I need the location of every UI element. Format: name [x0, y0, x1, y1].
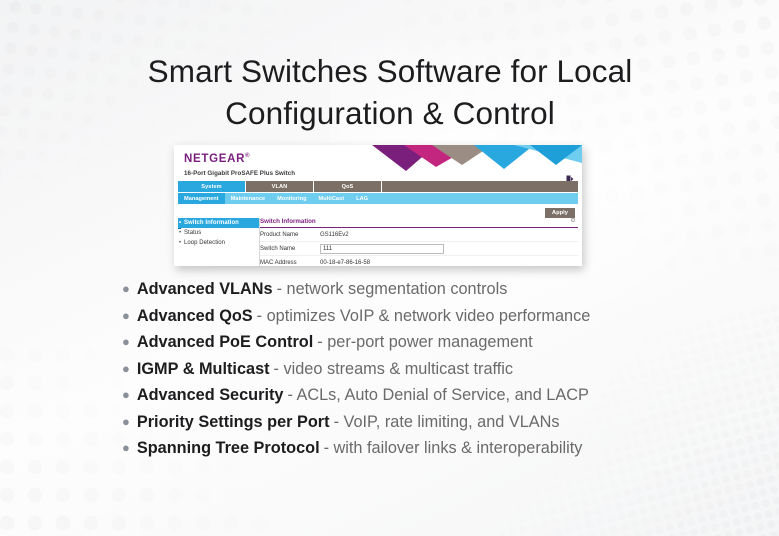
subtab-lag[interactable]: LAG — [350, 193, 374, 204]
value-mac-address: 00-18-e7-86-16-58 — [320, 260, 370, 266]
logout-icon[interactable] — [566, 170, 574, 178]
page-title-line-2: Configuration & Control — [60, 92, 720, 134]
netgear-logo: NETGEAR® — [184, 153, 250, 165]
list-item: ● Advanced PoE Control - per-port power … — [122, 333, 742, 360]
bullet-description: - network segmentation controls — [277, 280, 508, 299]
nav-item-switch-information[interactable]: Switch Information — [178, 218, 259, 228]
subtab-multicast[interactable]: MultiCast — [313, 193, 351, 204]
nav-item-status[interactable]: Status — [178, 228, 259, 238]
row-product-name: Product Name GS116Ev2 — [260, 228, 578, 242]
label-mac-address: MAC Address — [260, 260, 320, 266]
list-item: ● Advanced QoS - optimizes VoIP & networ… — [122, 307, 742, 334]
bullet-term: Spanning Tree Protocol — [137, 439, 320, 458]
label-switch-name: Switch Name — [260, 246, 320, 252]
switch-admin-screenshot: NETGEAR® 16-Port Gigabit ProSAFE Plus Sw… — [174, 145, 582, 266]
bullet-term: Advanced VLANs — [137, 280, 273, 299]
bullet-description: - optimizes VoIP & network video perform… — [257, 307, 591, 326]
slide-canvas: Smart Switches Software for Local Config… — [0, 0, 779, 536]
bullet-description: - per-port power management — [317, 333, 532, 352]
subtab-maintenance[interactable]: Maintenance — [225, 193, 271, 204]
page-title-line-1: Smart Switches Software for Local — [60, 50, 720, 92]
tab-vlan[interactable]: VLAN — [246, 181, 314, 192]
switch-information-pane: Switch Information Product Name GS116Ev2… — [260, 218, 578, 266]
netgear-trademark: ® — [245, 153, 250, 159]
page-title: Smart Switches Software for Local Config… — [60, 50, 720, 134]
bullet-term: IGMP & Multicast — [137, 360, 270, 379]
value-product-name: GS116Ev2 — [320, 232, 349, 238]
subtab-management[interactable]: Management — [178, 193, 225, 204]
bullet-dot-icon: ● — [122, 335, 130, 348]
bullet-dot-icon: ● — [122, 415, 130, 428]
list-item: ● Advanced VLANs - network segmentation … — [122, 280, 742, 307]
pane-heading: Switch Information — [260, 218, 578, 228]
tab-bar-filler — [382, 181, 578, 192]
bullet-term: Advanced QoS — [137, 307, 253, 326]
bullet-dot-icon: ● — [122, 441, 130, 454]
row-mac-address: MAC Address 00-18-e7-86-16-58 — [260, 256, 578, 266]
bullet-term: Priority Settings per Port — [137, 413, 330, 432]
row-switch-name: Switch Name 111 — [260, 242, 578, 256]
sub-tab-bar[interactable]: Management Maintenance Monitoring MultiC… — [178, 193, 578, 204]
bullet-dot-icon: ● — [122, 282, 130, 295]
label-product-name: Product Name — [260, 232, 320, 238]
netgear-logo-text: NETGEAR — [184, 153, 245, 165]
main-tab-bar[interactable]: System VLAN QoS — [178, 181, 578, 192]
switch-left-nav[interactable]: Switch Information Status Loop Detection — [178, 218, 260, 266]
bullet-description: - video streams & multicast traffic — [274, 360, 513, 379]
bullet-dot-icon: ● — [122, 388, 130, 401]
list-item: ● IGMP & Multicast - video streams & mul… — [122, 360, 742, 387]
tab-qos[interactable]: QoS — [314, 181, 382, 192]
list-item: ● Priority Settings per Port - VoIP, rat… — [122, 413, 742, 440]
feature-bullet-list: ● Advanced VLANs - network segmentation … — [122, 280, 742, 466]
bullet-dot-icon: ● — [122, 309, 130, 322]
list-item: ● Spanning Tree Protocol - with failover… — [122, 439, 742, 466]
bullet-dot-icon: ● — [122, 362, 130, 375]
bullet-description: - VoIP, rate limiting, and VLANs — [334, 413, 560, 432]
subtab-monitoring[interactable]: Monitoring — [271, 193, 312, 204]
bullet-term: Advanced Security — [137, 386, 284, 405]
tab-system[interactable]: System — [178, 181, 246, 192]
bullet-term: Advanced PoE Control — [137, 333, 313, 352]
list-item: ● Advanced Security - ACLs, Auto Denial … — [122, 386, 742, 413]
switch-name-input[interactable]: 111 — [320, 244, 444, 254]
bullet-description: - with failover links & interoperability — [324, 439, 583, 458]
switch-model-label: 16-Port Gigabit ProSAFE Plus Switch — [184, 170, 295, 177]
bullet-description: - ACLs, Auto Denial of Service, and LACP — [287, 386, 588, 405]
gear-icon[interactable] — [570, 217, 576, 223]
pane-heading-label: Switch Information — [260, 218, 316, 225]
nav-item-loop-detection[interactable]: Loop Detection — [178, 238, 259, 248]
